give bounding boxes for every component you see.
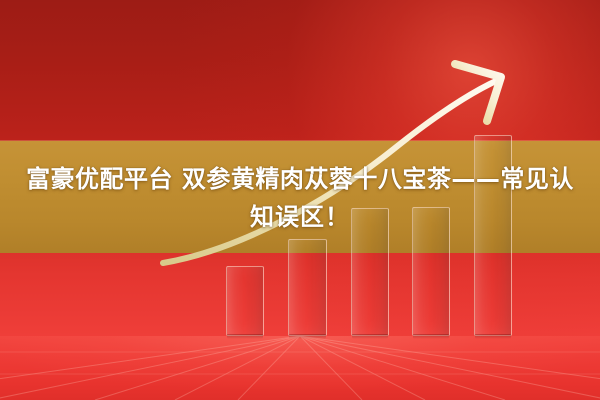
headline-line-1: 富豪优配平台 双参黄精肉苁蓉十八宝茶——常见认: [0, 160, 600, 198]
promo-banner-image: 富豪优配平台 双参黄精肉苁蓉十八宝茶——常见认 知误区！: [0, 0, 600, 400]
headline-line-2: 知误区！: [0, 198, 600, 236]
bar-1: [226, 266, 264, 336]
bar-2: [288, 239, 327, 336]
banner-headline: 富豪优配平台 双参黄精肉苁蓉十八宝茶——常见认 知误区！: [0, 160, 600, 236]
